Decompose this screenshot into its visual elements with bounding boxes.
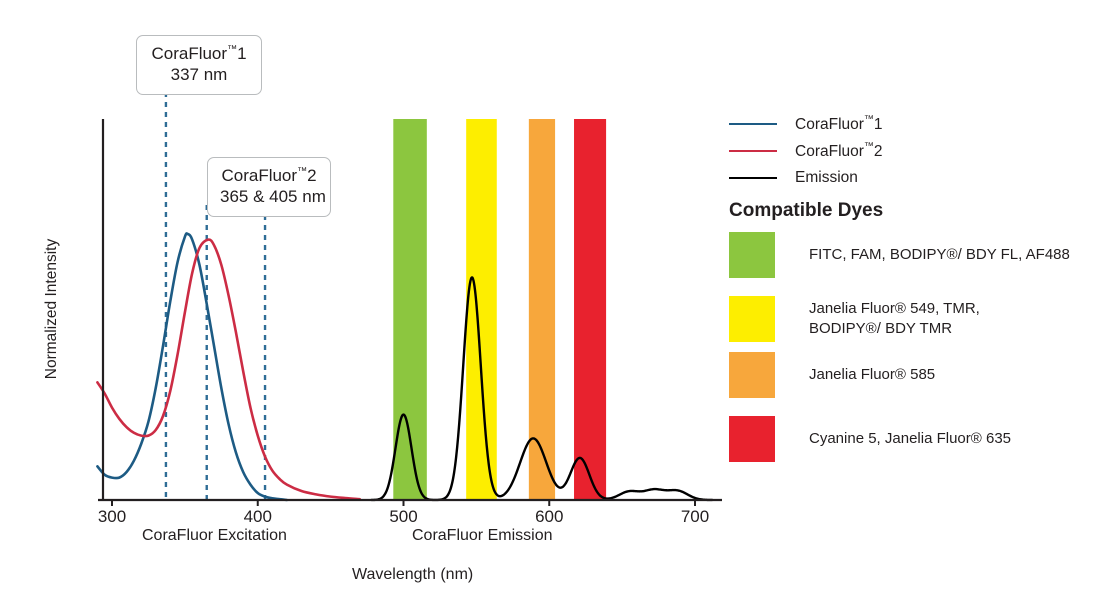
figure-root: CoraFluor™1 337 nm CoraFluor™2 365 & 405… — [0, 0, 1110, 612]
compatible-dyes-title: Compatible Dyes — [729, 200, 883, 222]
legend-label-1: CoraFluor™2 — [795, 141, 883, 161]
x-tick-label-300: 300 — [82, 507, 142, 527]
excitation-region-label: CoraFluor Excitation — [142, 527, 287, 545]
dye-bands-layer — [393, 119, 606, 500]
x-tick-label-400: 400 — [228, 507, 288, 527]
callout1-suffix: 1 — [237, 44, 246, 63]
dye-color-swatch-2 — [729, 352, 775, 398]
callout-corafluor-1: CoraFluor™1 337 nm — [136, 35, 262, 95]
legend-label-2: Emission — [795, 169, 858, 187]
callout1-name: CoraFluor — [151, 44, 227, 63]
excitation-marker-lines — [166, 92, 265, 500]
callout1-value: 337 nm — [149, 64, 249, 85]
legend-line-swatch-2 — [729, 177, 777, 179]
dye-band-1 — [466, 119, 497, 500]
y-axis-title: Normalized Intensity — [43, 219, 61, 399]
dye-label-3: Cyanine 5, Janelia Fluor® 635 — [809, 429, 1011, 449]
callout2-name: CoraFluor — [221, 166, 297, 185]
dye-label-2: Janelia Fluor® 585 — [809, 365, 935, 385]
emission-region-label: CoraFluor Emission — [412, 527, 552, 545]
legend-label-0: CoraFluor™1 — [795, 114, 883, 134]
dye-color-swatch-0 — [729, 232, 775, 278]
dye-label-1: Janelia Fluor® 549, TMR,BODIPY®/ BDY TMR — [809, 299, 980, 340]
callout2-tm: ™ — [297, 166, 307, 177]
dye-label-0: FITC, FAM, BODIPY®/ BDY FL, AF488 — [809, 245, 1070, 265]
dye-row-0: FITC, FAM, BODIPY®/ BDY FL, AF488 — [729, 232, 1101, 278]
dye-band-3 — [574, 119, 606, 500]
compatible-dyes-list: FITC, FAM, BODIPY®/ BDY FL, AF488Janelia… — [729, 232, 1101, 480]
series-legend: CoraFluor™1CoraFluor™2Emission — [729, 110, 1101, 191]
dye-color-swatch-3 — [729, 416, 775, 462]
x-tick-label-700: 700 — [665, 507, 725, 527]
curve-CoraFluor2 — [97, 240, 359, 500]
dye-band-2 — [529, 119, 555, 500]
callout2-value: 365 & 405 nm — [220, 186, 318, 207]
callout2-suffix: 2 — [307, 166, 316, 185]
dye-row-2: Janelia Fluor® 585 — [729, 352, 1101, 398]
dye-row-1: Janelia Fluor® 549, TMR,BODIPY®/ BDY TMR — [729, 296, 1101, 342]
legend-row-0: CoraFluor™1 — [729, 110, 1101, 137]
dye-row-3: Cyanine 5, Janelia Fluor® 635 — [729, 416, 1101, 462]
x-axis-title: Wavelength (nm) — [352, 566, 473, 584]
callout-corafluor-2: CoraFluor™2 365 & 405 nm — [207, 157, 331, 217]
dye-color-swatch-1 — [729, 296, 775, 342]
x-tick-label-500: 500 — [374, 507, 434, 527]
legend-row-2: Emission — [729, 164, 1101, 191]
legend-line-swatch-0 — [729, 123, 777, 125]
legend-line-swatch-1 — [729, 150, 777, 152]
callout1-tm: ™ — [227, 44, 237, 55]
legend-row-1: CoraFluor™2 — [729, 137, 1101, 164]
x-tick-label-600: 600 — [519, 507, 579, 527]
